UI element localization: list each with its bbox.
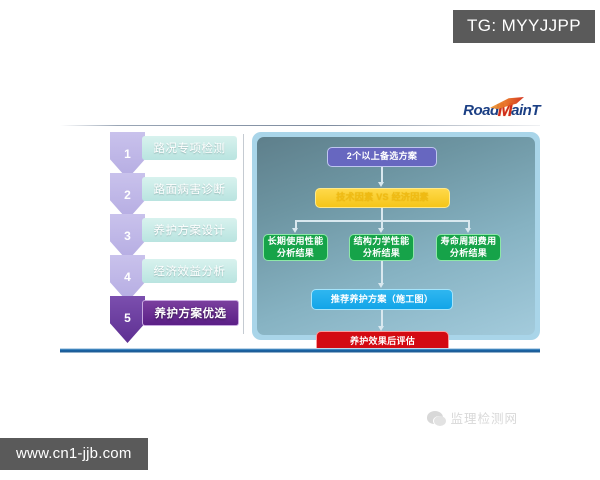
step-number: 4 (124, 271, 131, 283)
flow-node-alternatives[interactable]: 2个以上备选方案 (327, 147, 437, 167)
brand-logo: Road M ainT (463, 98, 540, 122)
flow-node-recommended-plan[interactable]: 推荐养护方案（施工图） (311, 289, 453, 310)
flowchart-surface: 2个以上备选方案 技术因素 VS 经济因素 长期使用性能 分析结果 (257, 137, 535, 335)
arrow-icon (378, 283, 384, 288)
step-label: 路面病害诊断 (142, 177, 237, 201)
tg-watermark: TG: MYYJJPP (453, 10, 595, 43)
process-step-5[interactable]: 5 养护方案优选 (60, 296, 243, 337)
connector-line (381, 261, 383, 285)
step-number: 1 (124, 148, 131, 160)
node-line-1: 结构力学性能 (354, 236, 410, 247)
chevron-icon: 4 (110, 255, 145, 302)
step-label: 养护方案设计 (142, 218, 237, 242)
process-step-3[interactable]: 3 养护方案设计 (60, 214, 243, 255)
roadmaint-logo: Road M ainT (463, 101, 540, 119)
process-steps-column: 1 路况专项检测 2 路面病害诊断 3 养护方案设计 4 经 (60, 132, 243, 340)
slide-content: 1 路况专项检测 2 路面病害诊断 3 养护方案设计 4 经 (60, 132, 540, 340)
flow-node-longterm-performance[interactable]: 长期使用性能 分析结果 (263, 234, 328, 261)
node-line-2: 分析结果 (450, 248, 487, 259)
chevron-icon: 1 (110, 132, 145, 179)
slide-canvas: Road M ainT 1 路况专项检测 2 路面病害诊断 3 (60, 98, 540, 366)
arrow-icon (378, 182, 384, 187)
step-number: 3 (124, 230, 131, 242)
flowchart-panel: 2个以上备选方案 技术因素 VS 经济因素 长期使用性能 分析结果 (252, 132, 540, 340)
flow-node-lifecycle-cost[interactable]: 寿命周期费用 分析结果 (436, 234, 501, 261)
bottom-accent-bar (60, 348, 540, 353)
step-label: 经济效益分析 (142, 259, 237, 283)
node-line-2: 分析结果 (277, 248, 314, 259)
process-step-4[interactable]: 4 经济效益分析 (60, 255, 243, 296)
wechat-watermark: 监理检测网 (427, 408, 518, 427)
chevron-icon: 2 (110, 173, 145, 220)
step-label: 路况专项检测 (142, 136, 237, 160)
arrow-icon (378, 228, 384, 233)
column-divider (243, 134, 244, 334)
arrow-icon (292, 228, 298, 233)
node-line-2: 分析结果 (363, 248, 400, 259)
logo-text-road: Road (463, 103, 499, 118)
process-step-2[interactable]: 2 路面病害诊断 (60, 173, 243, 214)
step-number: 5 (124, 312, 131, 324)
node-line-1: 寿命周期费用 (441, 236, 497, 247)
header-divider (60, 125, 540, 126)
process-step-1[interactable]: 1 路况专项检测 (60, 132, 243, 173)
connector-line (381, 208, 383, 220)
chevron-icon: 5 (110, 296, 145, 343)
url-watermark: www.cn1-jjb.com (0, 438, 148, 470)
wechat-account-name: 监理检测网 (450, 408, 518, 427)
node-line-1: 长期使用性能 (268, 236, 324, 247)
flow-node-tech-vs-econ[interactable]: 技术因素 VS 经济因素 (315, 188, 450, 208)
chevron-icon: 3 (110, 214, 145, 261)
logo-text-aint: ainT (511, 103, 540, 118)
step-number: 2 (124, 189, 131, 201)
wechat-icon (427, 411, 443, 424)
arrow-icon (465, 228, 471, 233)
step-label-active: 养护方案优选 (142, 300, 239, 326)
flow-node-structural-performance[interactable]: 结构力学性能 分析结果 (349, 234, 414, 261)
